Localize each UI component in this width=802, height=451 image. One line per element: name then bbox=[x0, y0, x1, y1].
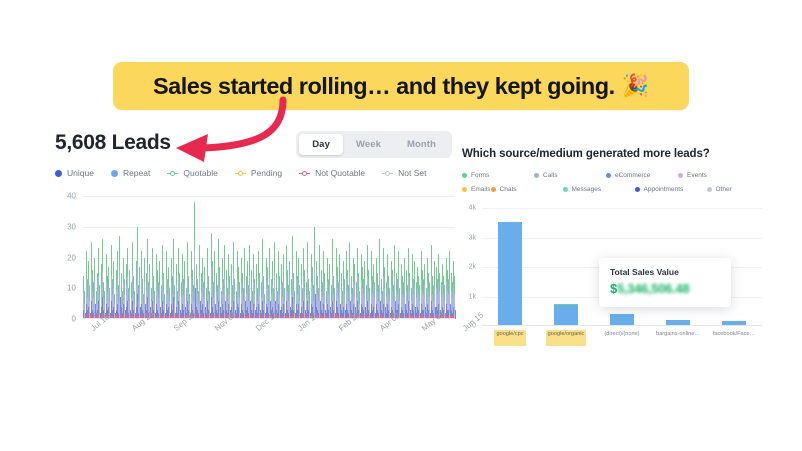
x-tick-label: google/cpc bbox=[482, 330, 538, 346]
legend-label: Repeat bbox=[123, 168, 150, 178]
y-tick-label: 1k bbox=[469, 293, 476, 300]
legend-label: Other bbox=[716, 186, 732, 193]
callout-banner-text: Sales started rolling… and they kept goi… bbox=[153, 73, 615, 100]
legend-dot-icon bbox=[462, 187, 467, 192]
leads-chart: 010203040 Jul 18Aug 24Sep 30Nov 06Dec 13… bbox=[55, 196, 455, 331]
source-medium-x-axis-line bbox=[482, 325, 762, 326]
legend-label: Calls bbox=[543, 172, 557, 179]
source-medium-panel: Which source/medium generated more leads… bbox=[462, 148, 762, 373]
legend-item-not-set[interactable]: Not Set bbox=[382, 168, 426, 178]
leads-bar-series bbox=[83, 196, 455, 319]
legend-dot-icon bbox=[678, 173, 683, 178]
source-bar[interactable] bbox=[498, 222, 522, 326]
legend-dot-icon bbox=[491, 187, 496, 192]
source-legend-item-ecommerce[interactable]: eCommerce bbox=[606, 172, 678, 179]
legend-dot-icon bbox=[111, 170, 118, 177]
range-toggle-week[interactable]: Week bbox=[343, 134, 394, 155]
source-legend-item-other[interactable]: Other bbox=[707, 186, 732, 193]
legend-dot-icon bbox=[707, 187, 712, 192]
legend-label: Appointments bbox=[644, 186, 684, 193]
source-medium-title: Which source/medium generated more leads… bbox=[462, 148, 762, 160]
legend-label: Pending bbox=[251, 168, 282, 178]
screenshot-canvas: Sales started rolling… and they kept goi… bbox=[0, 0, 802, 451]
legend-label: Messages bbox=[572, 186, 602, 193]
y-tick-label: 40 bbox=[67, 192, 76, 201]
x-tick-label: bargains-online… bbox=[650, 330, 706, 346]
legend-label: Emails bbox=[471, 186, 491, 193]
legend-label: eCommerce bbox=[615, 172, 650, 179]
leads-legend: UniqueRepeatQuotablePendingNot QuotableN… bbox=[55, 168, 427, 178]
legend-item-pending[interactable]: Pending bbox=[235, 168, 282, 178]
source-legend-item-emails[interactable]: Emails bbox=[462, 186, 491, 193]
legend-line-icon bbox=[299, 170, 310, 177]
legend-dot-icon bbox=[462, 173, 467, 178]
page-title: 5,608 Leads bbox=[55, 131, 171, 155]
legend-label: Forms bbox=[471, 172, 489, 179]
legend-label: Chats bbox=[500, 186, 517, 193]
tooltip-title: Total Sales Value bbox=[610, 267, 720, 277]
range-toggle-day[interactable]: Day bbox=[299, 134, 343, 155]
legend-line-icon bbox=[235, 170, 246, 177]
source-legend-item-calls[interactable]: Calls bbox=[534, 172, 606, 179]
source-legend-item-events[interactable]: Events bbox=[678, 172, 750, 179]
range-toggle[interactable]: Day Week Month bbox=[296, 131, 452, 158]
y-tick-label: 3k bbox=[469, 234, 476, 241]
y-tick-label: 10 bbox=[67, 284, 76, 293]
source-legend-item-appointments[interactable]: Appointments bbox=[635, 186, 707, 193]
y-tick-label: 0 bbox=[472, 323, 476, 330]
x-tick-label: facebook/Face… bbox=[706, 330, 762, 346]
legend-dot-icon bbox=[606, 173, 611, 178]
y-tick-label: 30 bbox=[67, 222, 76, 231]
source-legend-item-messages[interactable]: Messages bbox=[563, 186, 635, 193]
legend-item-quotable[interactable]: Quotable bbox=[167, 168, 218, 178]
legend-dot-icon bbox=[563, 187, 568, 192]
source-medium-y-axis: 01k2k3k4k bbox=[462, 208, 478, 326]
legend-label: Events bbox=[687, 172, 707, 179]
party-popper-icon: 🎉 bbox=[622, 73, 649, 99]
chart-bar-group bbox=[482, 208, 538, 326]
x-tick-label: google/organic bbox=[538, 330, 594, 346]
tooltip-value: $5,346,506.48 bbox=[610, 281, 720, 296]
legend-line-icon bbox=[167, 170, 178, 177]
leads-y-axis: 010203040 bbox=[55, 196, 79, 319]
chart-bar-group bbox=[454, 196, 455, 319]
source-legend-item-forms[interactable]: Forms bbox=[462, 172, 534, 179]
legend-line-icon bbox=[382, 170, 393, 177]
bar-cap bbox=[554, 304, 578, 306]
y-tick-label: 2k bbox=[469, 264, 476, 271]
legend-dot-icon bbox=[55, 170, 62, 177]
chart-bar-group bbox=[538, 208, 594, 326]
source-bar[interactable] bbox=[554, 304, 578, 326]
y-tick-label: 0 bbox=[72, 315, 76, 324]
source-legend-item-chats[interactable]: Chats bbox=[491, 186, 563, 193]
source-medium-legend: FormsCallseCommerceEventsEmailsChatsMess… bbox=[462, 172, 754, 193]
leads-chart-panel: 5,608 Leads Day Week Month UniqueRepeatQ… bbox=[40, 126, 455, 376]
source-medium-chart: 01k2k3k4k google/cpcgoogle/organic(direc… bbox=[462, 208, 762, 338]
leads-x-axis-labels: Jul 18Aug 24Sep 30Nov 06Dec 13Jan 19Feb … bbox=[83, 322, 455, 362]
legend-label: Not Quotable bbox=[315, 168, 365, 178]
legend-dot-icon bbox=[635, 187, 640, 192]
total-sales-value-tooltip: Total Sales Value $5,346,506.48 bbox=[599, 258, 731, 307]
legend-label: Quotable bbox=[183, 168, 218, 178]
legend-item-not-quotable[interactable]: Not Quotable bbox=[299, 168, 365, 178]
legend-item-repeat[interactable]: Repeat bbox=[111, 168, 150, 178]
y-tick-label: 4k bbox=[469, 205, 476, 212]
y-tick-label: 20 bbox=[67, 253, 76, 262]
legend-dot-icon bbox=[534, 173, 539, 178]
legend-label: Not Set bbox=[398, 168, 426, 178]
leads-plot-area bbox=[83, 196, 455, 319]
source-medium-x-axis-labels: google/cpcgoogle/organic(direct)/(none)b… bbox=[482, 330, 762, 346]
callout-banner: Sales started rolling… and they kept goi… bbox=[113, 62, 689, 110]
x-tick-label: (direct)/(none) bbox=[594, 330, 650, 346]
legend-item-unique[interactable]: Unique bbox=[55, 168, 94, 178]
legend-label: Unique bbox=[67, 168, 94, 178]
range-toggle-month[interactable]: Month bbox=[394, 134, 449, 155]
